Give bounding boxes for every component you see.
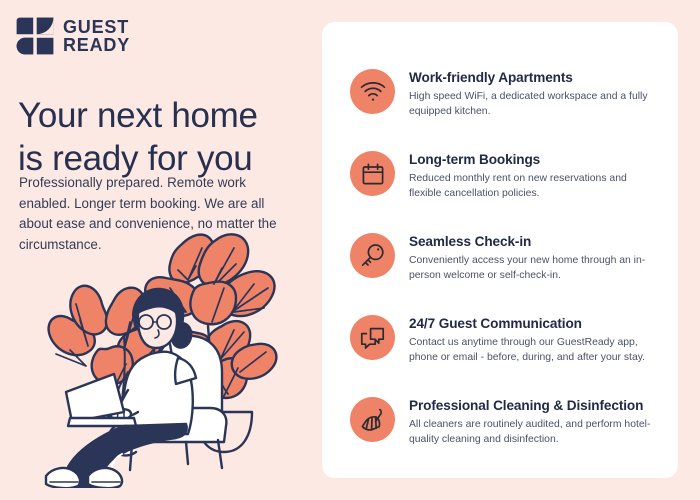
feature-title: Seamless Check-in bbox=[409, 234, 660, 251]
wifi-icon bbox=[350, 69, 395, 114]
feature-text: 24/7 Guest Communication Contact us anyt… bbox=[409, 315, 660, 366]
feature-description: All cleaners are routinely audited, and … bbox=[409, 418, 660, 448]
feature-text: Professional Cleaning & Disinfection All… bbox=[409, 397, 660, 448]
feature-item-professional-cleaning[interactable]: Professional Cleaning & Disinfection All… bbox=[350, 397, 660, 448]
feature-title: 24/7 Guest Communication bbox=[409, 316, 660, 333]
feature-title: Long-term Bookings bbox=[409, 152, 660, 169]
feature-description: Contact us anytime through our GuestRead… bbox=[409, 336, 660, 366]
feature-item-seamless-check-in[interactable]: Seamless Check-in Conveniently access yo… bbox=[350, 233, 660, 284]
marketing-page: GUEST READY Your next home is ready for … bbox=[0, 0, 700, 500]
feature-item-guest-communication[interactable]: 24/7 Guest Communication Contact us anyt… bbox=[350, 315, 660, 366]
feature-title: Professional Cleaning & Disinfection bbox=[409, 398, 660, 415]
feature-text: Long-term Bookings Reduced monthly rent … bbox=[409, 151, 660, 202]
brand-logo[interactable]: GUEST READY bbox=[16, 17, 130, 55]
brand-word-guest: GUEST bbox=[63, 18, 130, 36]
brand-wordmark: GUEST READY bbox=[63, 18, 130, 54]
feature-item-long-term-bookings[interactable]: Long-term Bookings Reduced monthly rent … bbox=[350, 151, 660, 202]
features-panel: Work-friendly Apartments High speed WiFi… bbox=[322, 22, 678, 478]
calendar-icon bbox=[350, 151, 395, 196]
hero-column: GUEST READY Your next home is ready for … bbox=[0, 0, 320, 500]
page-title: Your next home is ready for you bbox=[18, 95, 318, 180]
woman-with-laptop-illustration bbox=[36, 226, 314, 488]
chat-bubbles-icon bbox=[350, 315, 395, 360]
broom-icon bbox=[350, 397, 395, 442]
feature-description: High speed WiFi, a dedicated workspace a… bbox=[409, 90, 660, 120]
brand-word-ready: READY bbox=[63, 36, 130, 54]
feature-description: Conveniently access your new home throug… bbox=[409, 254, 660, 284]
feature-title: Work-friendly Apartments bbox=[409, 70, 660, 87]
feature-text: Seamless Check-in Conveniently access yo… bbox=[409, 233, 660, 284]
key-icon bbox=[350, 233, 395, 278]
feature-item-work-friendly-apartments[interactable]: Work-friendly Apartments High speed WiFi… bbox=[350, 69, 660, 120]
feature-text: Work-friendly Apartments High speed WiFi… bbox=[409, 69, 660, 120]
feature-description: Reduced monthly rent on new reservations… bbox=[409, 172, 660, 202]
guestready-logo-icon bbox=[16, 17, 54, 55]
